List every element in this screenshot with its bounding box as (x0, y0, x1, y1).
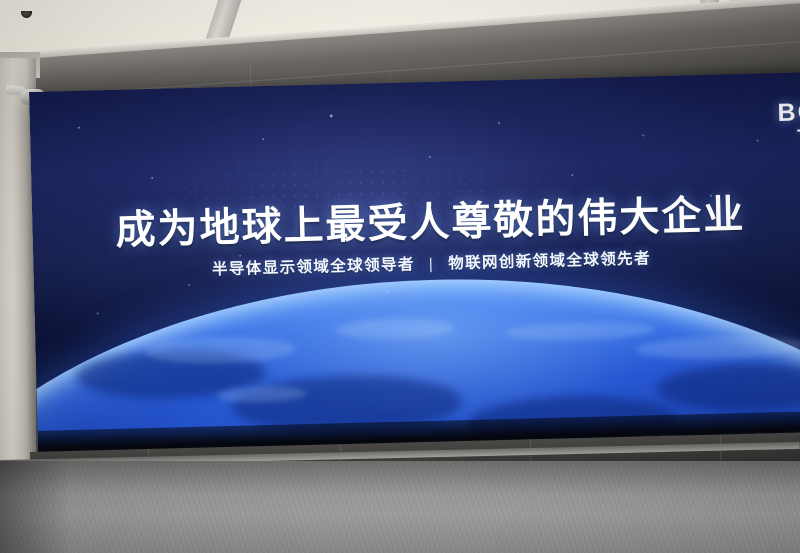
subtitle-separator: | (429, 256, 435, 274)
boe-logo: BOE (777, 98, 800, 129)
floor-shadow (0, 461, 800, 495)
star-dot (97, 312, 99, 314)
star-dot (498, 122, 500, 124)
led-wall-screen-content: BOE 成为地球上最受人尊敬的伟大企业 半导体显示领域全球领导者|物联网创新领域… (29, 72, 800, 477)
star-dot (330, 114, 333, 117)
star-dot (188, 284, 190, 286)
star-dot (78, 127, 80, 129)
star-dot (756, 140, 758, 142)
floor-corner-shadow (0, 461, 70, 553)
exhibition-hall-photo: BOE 成为地球上最受人尊敬的伟大企业 半导体显示领域全球领导者|物联网创新领域… (0, 0, 800, 553)
star-dot (386, 291, 388, 293)
led-video-wall: BOE 成为地球上最受人尊敬的伟大企业 半导体显示领域全球领导者|物联网创新领域… (29, 72, 800, 477)
